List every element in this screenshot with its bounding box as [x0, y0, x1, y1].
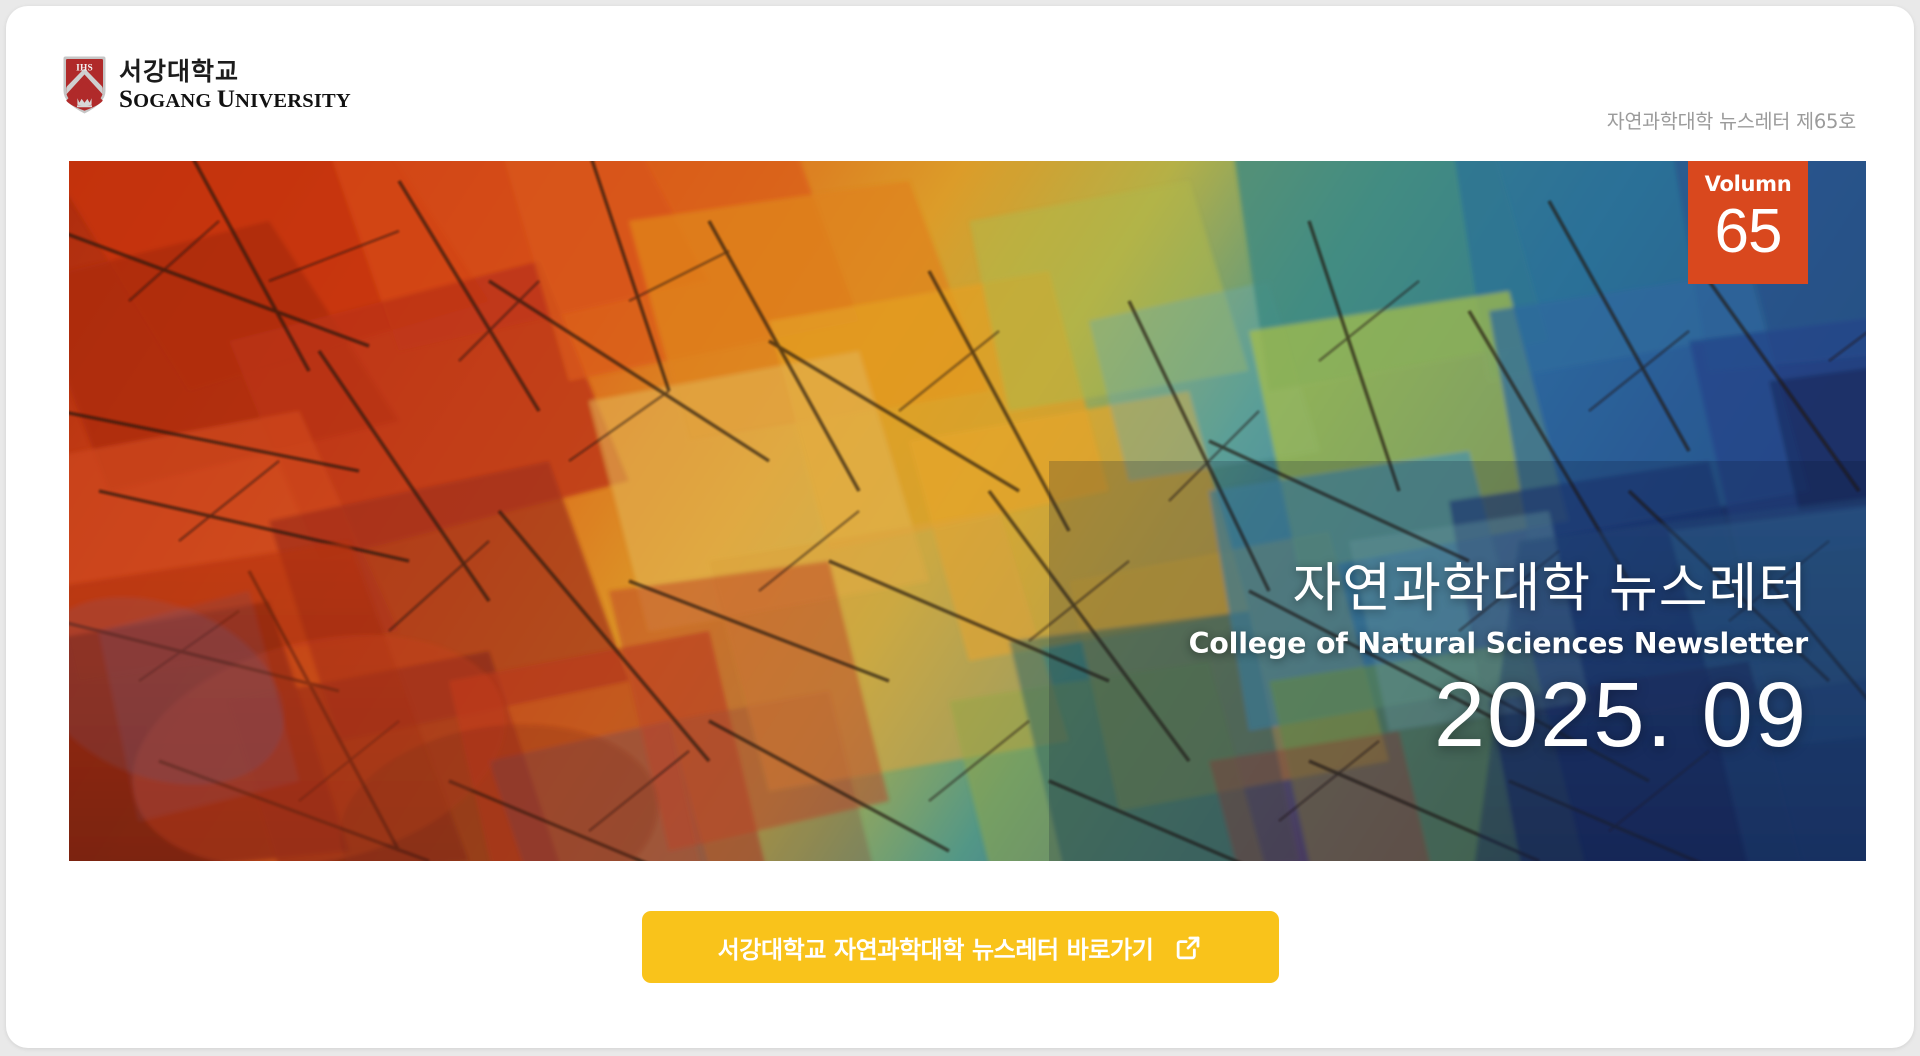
wordmark-korean: 서강대학교	[119, 58, 351, 85]
wordmark-en-cap-u: U	[217, 86, 235, 113]
wordmark-en-rest-ogang: OGANG	[133, 90, 217, 112]
cta-section: 서강대학교 자연과학대학 뉴스레터 바로가기	[6, 911, 1914, 983]
svg-text:IHS: IHS	[76, 64, 93, 74]
volume-badge: Volumn 65	[1688, 161, 1808, 284]
hero-banner: Volumn 65 자연과학대학 뉴스레터 College of Natural…	[69, 161, 1866, 861]
wordmark-en-cap-s: S	[119, 86, 133, 113]
wordmark-en-rest-niversity: NIVERSITY	[235, 90, 351, 112]
hero-text-block: 자연과학대학 뉴스레터 College of Natural Sciences …	[1189, 558, 1808, 765]
hero-issue-date: 2025. 09	[1189, 667, 1808, 765]
wordmark-english: SOGANG UNIVERSITY	[119, 86, 351, 114]
newsletter-link-button[interactable]: 서강대학교 자연과학대학 뉴스레터 바로가기	[642, 911, 1279, 983]
sogang-shield-logo-icon: IHS	[61, 55, 108, 115]
external-link-icon	[1175, 934, 1202, 961]
newsletter-card: IHS 서강대학교 SOGANG UNIVERSITY 자연과학대학 뉴스레터 …	[6, 6, 1914, 1048]
volume-badge-label: Volumn	[1705, 174, 1792, 195]
page-header: IHS 서강대학교 SOGANG UNIVERSITY 자연과학대학 뉴스레터 …	[6, 6, 1914, 155]
issue-label: 자연과학대학 뉴스레터 제65호	[1607, 105, 1856, 134]
volume-badge-number: 65	[1715, 201, 1782, 263]
newsletter-link-label: 서강대학교 자연과학대학 뉴스레터 바로가기	[718, 930, 1154, 965]
hero-title-korean: 자연과학대학 뉴스레터	[1189, 558, 1808, 621]
sogang-university-brand[interactable]: IHS 서강대학교 SOGANG UNIVERSITY	[61, 55, 351, 115]
sogang-wordmark: 서강대학교 SOGANG UNIVERSITY	[119, 56, 351, 114]
hero-title-english: College of Natural Sciences Newsletter	[1189, 626, 1808, 662]
